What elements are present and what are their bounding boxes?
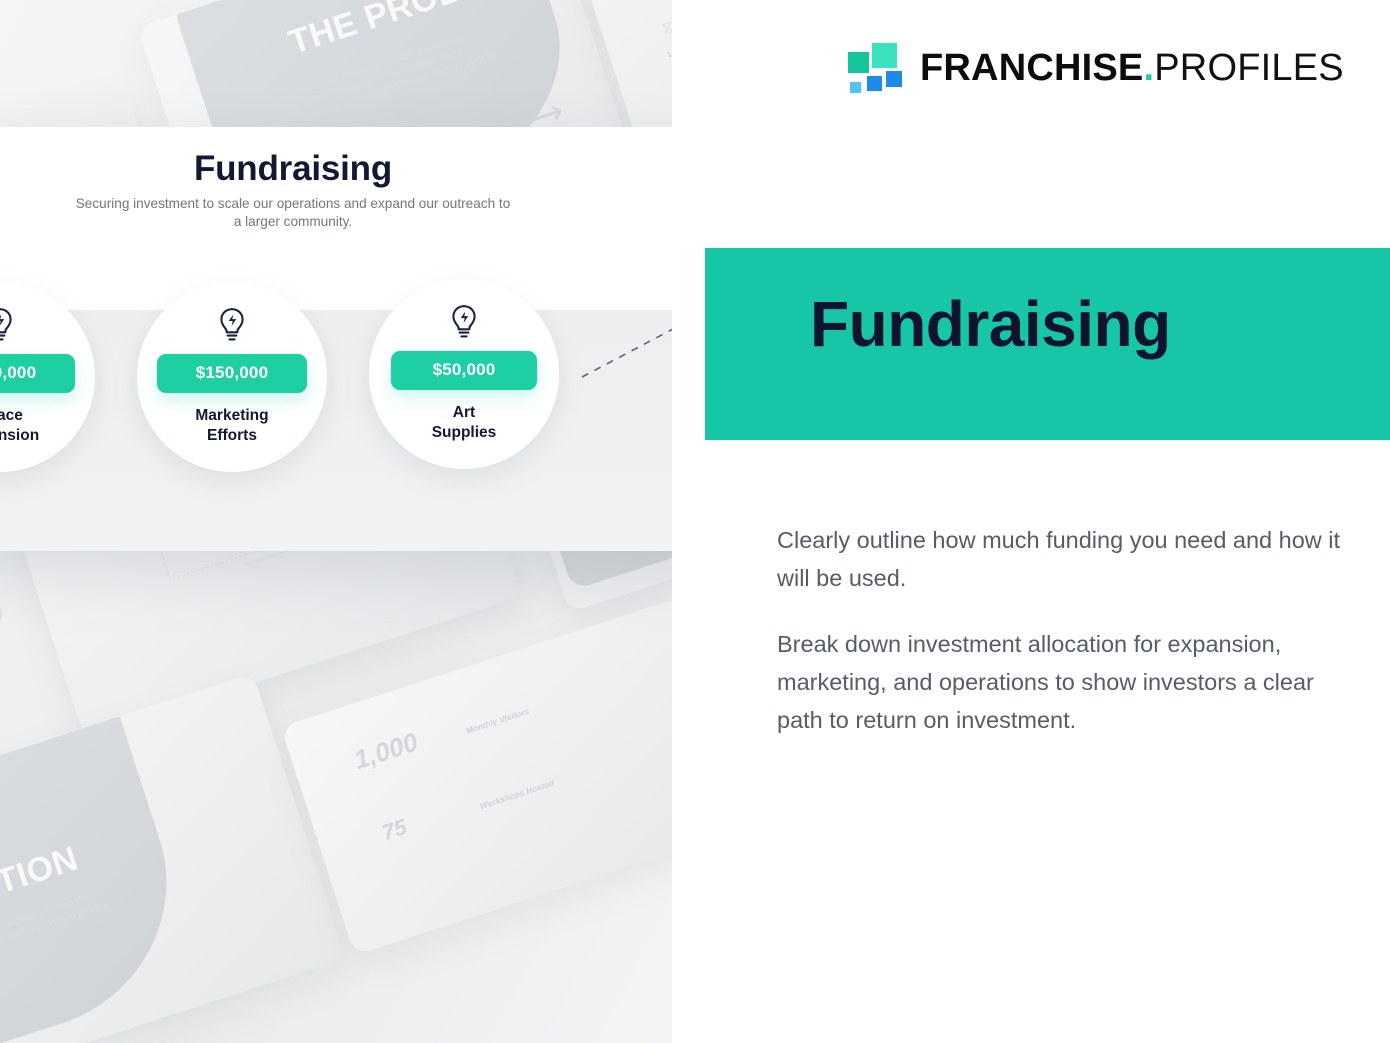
deck-stat-workshops-value: 75 <box>379 814 410 846</box>
logo-square-blue-center <box>867 76 882 91</box>
logo-square-teal-dark <box>848 52 869 73</box>
node-label-line2: Expansion <box>0 427 39 444</box>
node-label-line1: Marketing <box>195 407 268 424</box>
node-amount-badge: $50,000 <box>391 351 537 390</box>
banner-title: Fundraising <box>810 292 1171 356</box>
hourglass-icon: ⧖ <box>659 17 672 40</box>
brand-wordmark: FRANCHISE.PROFILES <box>920 49 1344 87</box>
node-label-line1: Space <box>0 407 23 424</box>
funding-node-marketing-efforts[interactable]: $150,000 Marketing Efforts <box>137 282 327 472</box>
right-content-panel: FRANCHISE.PROFILES Fundraising Clearly o… <box>672 0 1390 1043</box>
lightbulb-bolt-icon <box>448 303 480 346</box>
brand-logo[interactable]: FRANCHISE.PROFILES <box>848 43 1344 93</box>
node-label: Art Supplies <box>379 403 549 443</box>
dashed-connectors <box>0 127 704 551</box>
logo-text-light: PROFILES <box>1154 47 1344 89</box>
node-amount-badge: $150,000 <box>157 354 307 393</box>
deck-stat-visitors-label: Monthly Visitors <box>465 706 531 736</box>
franchise-profiles-logo-mark <box>848 43 902 93</box>
description-paragraph-1: Clearly outline how much funding you nee… <box>777 521 1351 597</box>
deck-stat-visitors-value: 1,000 <box>350 727 421 777</box>
node-label-line1: Art <box>453 404 475 421</box>
node-label: Marketing Efforts <box>147 406 317 446</box>
lightbulb-bolt-icon <box>216 306 248 349</box>
node-amount-badge: $150,000 <box>0 354 75 393</box>
funding-node-space-expansion[interactable]: $150,000 Space Expansion <box>0 282 95 472</box>
funding-node-art-supplies[interactable]: $50,000 Art Supplies <box>369 279 559 469</box>
teal-title-banner: Fundraising <box>705 248 1390 440</box>
logo-square-blue-light <box>850 82 861 93</box>
node-label: Space Expansion <box>0 406 85 446</box>
description-body: Clearly outline how much funding you nee… <box>777 521 1351 739</box>
logo-square-teal-light <box>872 43 897 68</box>
logo-text-bold: FRANCHISE <box>920 47 1143 89</box>
deck-stat-workshops-label: Workshops Hosted <box>479 778 556 811</box>
node-label-line2: Efforts <box>207 427 257 444</box>
lightbulb-bolt-icon <box>0 306 16 349</box>
description-paragraph-2: Break down investment allocation for exp… <box>777 625 1351 739</box>
slide-preview-page: COMPANY NAME investor pitch deck THE PRO… <box>0 0 1390 1043</box>
logo-text-dot: . <box>1143 47 1154 89</box>
logo-square-blue-right <box>886 71 902 87</box>
node-label-line2: Supplies <box>432 424 497 441</box>
fundraising-slide-card: Fundraising Securing investment to scale… <box>0 127 704 551</box>
